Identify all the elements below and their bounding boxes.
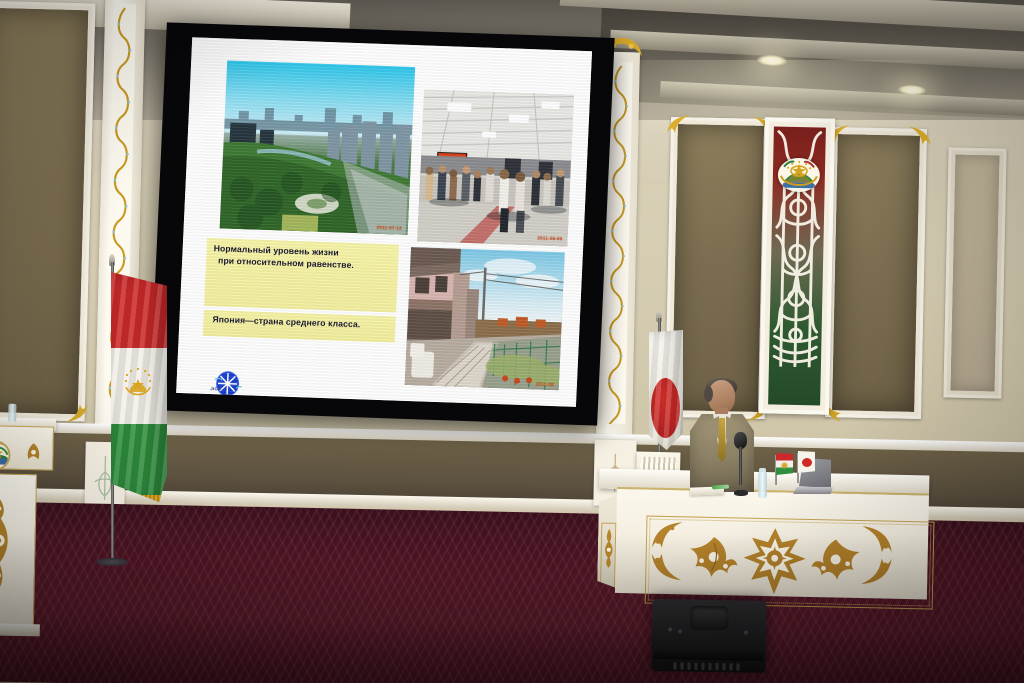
photo-station-crowd: 2011-08-09 [417, 89, 574, 246]
photo-residential-street: 2011-08 [405, 247, 565, 390]
tajikistan-crown-emblem-icon [123, 367, 153, 401]
wall-panel-left [0, 1, 95, 422]
table-side-motif-left-icon [687, 532, 740, 587]
carved-lattice-niche [759, 117, 835, 414]
gold-corner-ornament-icon [665, 113, 691, 136]
case-label-strip [673, 662, 743, 670]
equipment-flight-case [651, 599, 766, 673]
flag-tajikistan-standing [108, 262, 116, 562]
case-lower-lip [654, 649, 764, 661]
case-latch-icon [678, 629, 682, 633]
projection-screen: 2011-07-12 [176, 37, 592, 407]
slide-logo-text: JICA [210, 386, 221, 391]
tajikistan-flag-cloth [111, 272, 167, 502]
microphone [733, 432, 749, 494]
table-corner-scroll-icon [650, 520, 685, 551]
microphone-gooseneck [739, 447, 742, 485]
slide-logo-icon [212, 370, 243, 397]
case-latch-icon [744, 631, 748, 635]
presentation-slide: 2011-07-12 [176, 37, 592, 407]
wall-panel-right-3 [943, 147, 1006, 398]
photo-timestamp: 2011-08-09 [537, 235, 562, 241]
japan-flag-cloth [649, 330, 683, 450]
table-corner-scroll-icon [859, 556, 894, 587]
lectern-head-panel [0, 425, 54, 471]
wall-panel-right-2 [825, 127, 927, 419]
water-bottle-lectern [8, 404, 16, 422]
flag-stand-base [96, 558, 128, 566]
desk-flag-cloth [798, 451, 815, 473]
speaker-tie [718, 418, 726, 462]
lectern-body-ornament-icon [0, 496, 18, 601]
table-corner-scroll-icon [649, 552, 684, 583]
table-front-panel [615, 487, 929, 600]
table-side-motif-right-icon [809, 535, 862, 590]
flag-japan-standing [655, 318, 663, 468]
photo-tokyo-aerial: 2011-07-12 [220, 61, 416, 235]
photo-timestamp: 2011-07-12 [376, 225, 401, 231]
panel-fabric [672, 124, 764, 412]
panel-fabric [832, 134, 920, 412]
laptop-keyboard-base [793, 487, 833, 494]
case-latch-icon [668, 627, 672, 631]
table-center-medallion-icon [735, 525, 814, 599]
flag-fold-shading [649, 330, 683, 450]
desk-flag-japan [797, 451, 817, 483]
conference-hall-scene: 2011-07-12 [0, 0, 1024, 683]
lectern-base [0, 623, 40, 637]
case-handle[interactable] [690, 606, 728, 631]
water-bottle-desk [758, 472, 767, 498]
lectern-head-ornament-icon [20, 441, 46, 464]
column-capital-ornament-icon [99, 0, 152, 1]
lectern [0, 417, 64, 631]
panel-fabric [0, 8, 88, 415]
gold-corner-ornament-icon [907, 125, 933, 148]
speaker-hair-side [704, 386, 713, 402]
microphone-base [734, 490, 748, 496]
tajikistan-crown-emblem-icon [780, 462, 789, 469]
panel-fabric [951, 155, 1000, 392]
state-emblem-icon [0, 440, 11, 471]
table-side-ornament-icon [601, 527, 616, 569]
projection-screen-frame: 2011-07-12 [149, 22, 614, 425]
photo-timestamp: 2011-08 [536, 381, 554, 387]
japan-sun-disc-icon [802, 458, 812, 467]
gold-corner-ornament-icon [63, 402, 90, 425]
desk-flag-tajikistan [775, 453, 795, 485]
lectern-body-panel [0, 473, 37, 630]
table-corner-scroll-icon [860, 524, 895, 555]
